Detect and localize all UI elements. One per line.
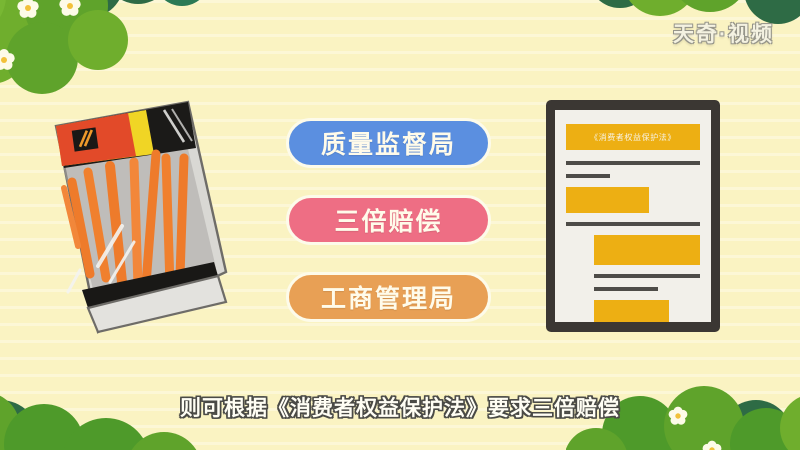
law-document[interactable]: 《消费者权益保护法》 (546, 100, 720, 332)
doc-text-line (566, 222, 700, 226)
doc-highlight-block (594, 300, 669, 322)
law-document-title: 《消费者权益保护法》 (566, 124, 700, 150)
pill-label: 三倍赔偿 (334, 202, 442, 238)
video-frame: 质量监督局 三倍赔偿 工商管理局 《消费者权益保护法》 天奇·视频 则可根据《消… (0, 0, 800, 450)
brand-slash-logo (72, 127, 99, 151)
category-pill-group: 质量监督局 三倍赔偿 工商管理局 (286, 118, 491, 322)
doc-highlight-block (594, 235, 700, 265)
video-subtitle: 则可根据《消费者权益保护法》要求三倍赔偿 (0, 392, 800, 422)
doc-text-line (594, 287, 658, 291)
snack-package-illustration (38, 96, 234, 344)
pill-label: 质量监督局 (321, 125, 456, 161)
pill-industry-commerce-bureau[interactable]: 工商管理局 (286, 272, 491, 322)
pill-label: 工商管理局 (321, 279, 456, 315)
law-document-page: 《消费者权益保护法》 (555, 110, 711, 322)
doc-highlight-block (566, 187, 649, 213)
pill-quality-supervision-bureau[interactable]: 质量监督局 (286, 118, 491, 168)
doc-text-line (594, 274, 700, 278)
doc-text-line (566, 161, 700, 165)
doc-text-line (566, 174, 610, 178)
channel-watermark: 天奇·视频 (673, 18, 774, 48)
pill-triple-compensation[interactable]: 三倍赔偿 (286, 195, 491, 245)
